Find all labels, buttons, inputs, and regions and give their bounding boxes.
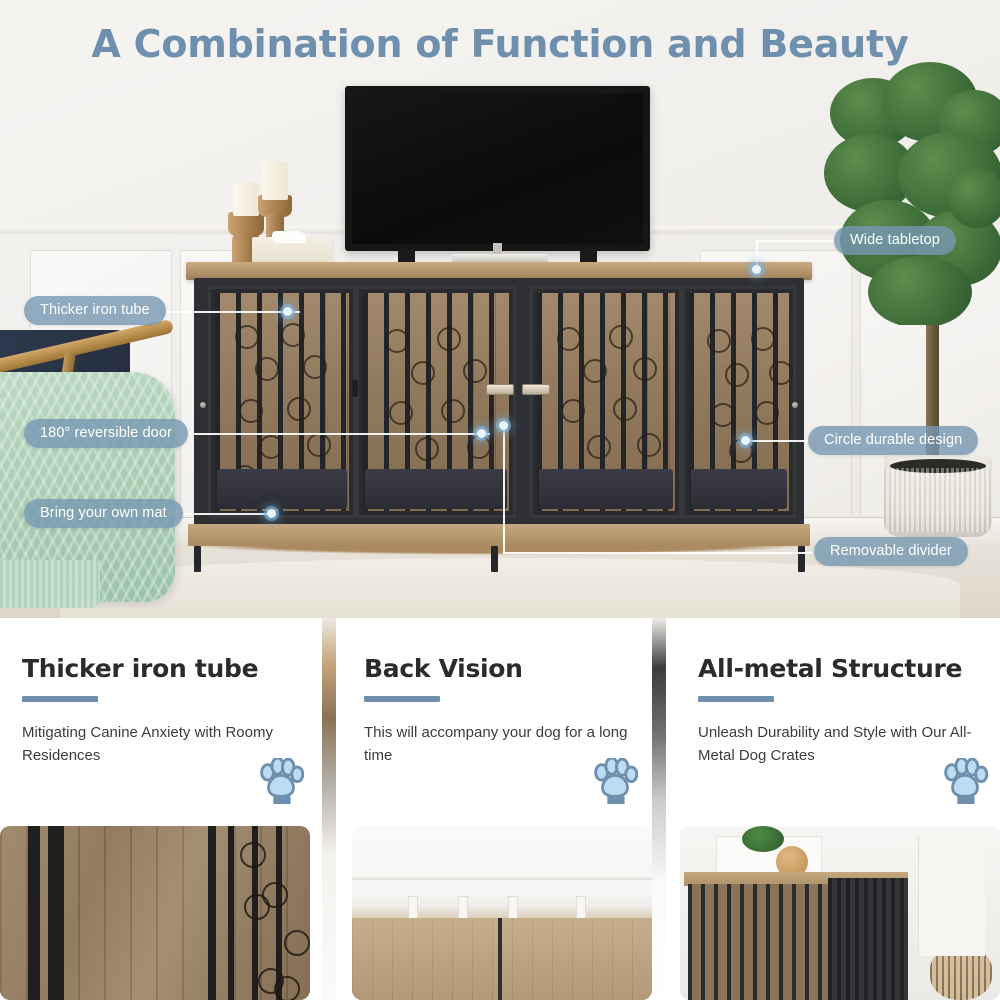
crate-mat [217,469,347,509]
card-title: All-metal Structure [698,654,962,683]
callout-leader [756,240,834,242]
callout-thicker-iron-tube[interactable]: Thicker iron tube [24,296,166,325]
dog-crate-furniture [186,262,812,562]
callout-wide-tabletop[interactable]: Wide tabletop [834,226,956,255]
plant-pot-texture [884,468,992,532]
callout-leader [503,425,505,553]
tv-screen [352,93,643,244]
page-title: A Combination of Function and Beauty [0,22,1000,66]
candle [262,162,288,200]
crate-screw [792,402,798,408]
gap-image-strip [652,618,666,1000]
callout-dot [752,265,761,274]
candle [233,182,259,216]
callout-circle-durable-design[interactable]: Circle durable design [808,426,978,455]
crate-plinth [188,524,810,546]
crate-foot [798,546,805,572]
feature-card-3: All-metal Structure Unleash Durability a… [666,618,1000,1000]
crate-screw [200,402,206,408]
card-rule [364,696,440,702]
crate-mat [691,469,787,509]
callout-bring-your-own-mat[interactable]: Bring your own mat [24,499,183,528]
feature-card-1: Thicker iron tube Mitigating Canine Anxi… [0,618,322,1000]
callout-dot [477,429,486,438]
crate-door-left-inner[interactable] [356,286,516,518]
feature-cards-section: Thicker iron tube Mitigating Canine Anxi… [0,618,1000,1000]
card-photo-3 [680,826,1000,1000]
crate-latch[interactable] [522,384,550,395]
television [345,86,650,251]
crate-door-left[interactable] [208,286,356,518]
callout-leader [152,311,300,313]
callout-leader [745,440,811,442]
plant-canopy [820,60,1000,325]
feature-card-2: Back Vision This will accompany your dog… [336,618,652,1000]
callout-reversible-door[interactable]: 180° reversible door [24,419,188,448]
card-rule [22,696,98,702]
callout-leader [184,513,276,515]
callout-leader [190,433,490,435]
crate-foot [491,546,498,572]
crate-mat [539,469,673,509]
callout-dot [499,421,508,430]
callout-dot [283,307,292,316]
gap-image-strip [322,618,336,1000]
crate-door-right-inner[interactable] [530,286,682,518]
tissue [272,231,306,243]
card-title: Thicker iron tube [22,654,258,683]
crate-latch[interactable] [486,384,514,395]
card-title: Back Vision [364,654,523,683]
paw-icon [592,758,638,804]
crate-divider [518,278,530,526]
card-rule [698,696,774,702]
paw-icon [942,758,988,804]
paw-icon [258,758,304,804]
callout-dot [741,436,750,445]
throw-fringe [0,560,100,608]
crate-foot [194,546,201,572]
infographic-page: Thicker iron tube 180° reversible door B… [0,0,1000,1000]
callout-leader [503,552,813,554]
crate-mat [365,469,507,509]
callout-removable-divider[interactable]: Removable divider [814,537,968,566]
callout-dot [267,509,276,518]
crate-hinge [352,380,358,397]
crate-door-right[interactable] [682,286,796,518]
card-photo-2 [352,826,652,1000]
card-photo-1 [0,826,310,1000]
hero-image: Thicker iron tube 180° reversible door B… [0,0,1000,618]
